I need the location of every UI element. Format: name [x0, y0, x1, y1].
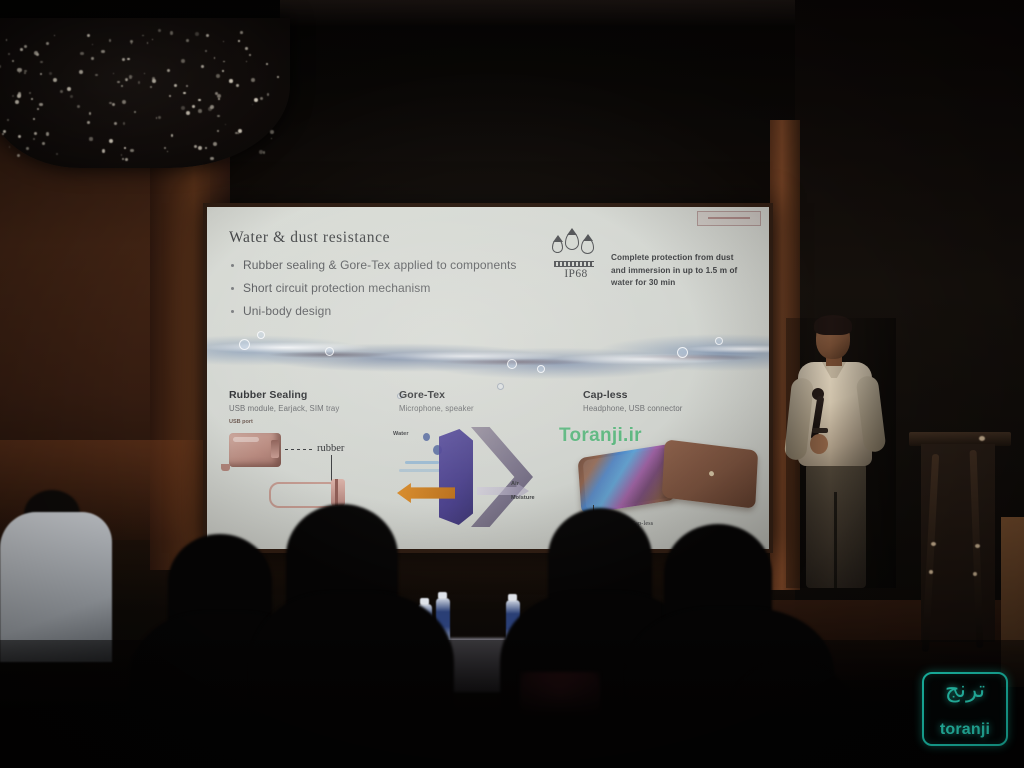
chandelier-sparkle — [171, 134, 174, 137]
water-bubble — [257, 331, 265, 339]
chandelier-sparkle — [194, 145, 197, 148]
sim-tray-end — [331, 479, 345, 506]
chandelier-sparkle — [102, 149, 105, 152]
chandelier-sparkle — [270, 130, 274, 134]
bullet-text: Short circuit protection mechanism — [243, 282, 430, 295]
water-bottle-cap — [420, 598, 429, 605]
chandelier-sparkle — [206, 34, 209, 37]
podium-light-glint — [975, 544, 980, 548]
toranji-logo: ترنج toranji — [922, 672, 1008, 746]
chandelier-sparkle — [156, 117, 157, 118]
chandelier-sparkle — [198, 109, 202, 113]
gore-tex-diagram: Water Air Moisture — [393, 425, 543, 530]
water-droplet — [497, 383, 504, 390]
chandelier-sparkle — [167, 151, 168, 152]
phone-render-front — [578, 443, 677, 514]
chandelier-sparkle — [217, 115, 220, 118]
chandelier-sparkle — [12, 60, 14, 62]
chandelier-sparkle — [92, 44, 93, 45]
chandelier-sparkle — [20, 48, 23, 51]
chandelier-sparkle — [12, 95, 14, 97]
chandelier-sparkle — [144, 73, 145, 74]
water-bottle-cap — [438, 592, 447, 599]
ip-rating-badge: IP68 — [552, 229, 600, 285]
chandelier-sparkle — [205, 147, 207, 149]
rubber-callout-label: rubber — [317, 443, 344, 454]
section-gore-tex: Gore-Tex Microphone, speaker — [399, 389, 474, 413]
water-bubble — [239, 339, 250, 350]
ip-rating-label: IP68 — [554, 268, 598, 280]
chandelier-sparkle — [254, 98, 258, 102]
chandelier-sparkle — [152, 79, 156, 83]
gore-tex-label-moisture: Moisture — [511, 495, 535, 501]
chandelier-sparkle — [164, 147, 166, 149]
chandelier-sparkle — [186, 111, 190, 115]
logo-persian-text: ترنج — [922, 679, 1008, 702]
chandelier-sparkle — [210, 157, 214, 161]
chandelier-sparkle — [122, 158, 124, 160]
chandelier-sparkle — [251, 78, 255, 82]
gore-tex-chevron — [471, 427, 533, 527]
water-bottle-cap — [508, 594, 517, 601]
bullet-text: Rubber sealing & Gore-Tex applied to com… — [243, 259, 517, 272]
section-cap-less: Cap-less Headphone, USB connector — [583, 389, 683, 413]
rubber-callout-stem — [331, 455, 332, 481]
chandelier-sparkle — [121, 85, 124, 88]
rubber-callout-line — [285, 449, 315, 450]
podium-light-glint — [973, 572, 977, 576]
chandelier-sparkle — [192, 105, 195, 108]
chandelier-sparkle — [109, 39, 111, 41]
crystal-chandelier — [0, 18, 290, 168]
chandelier-sparkle — [89, 137, 92, 140]
chandelier-sparkle — [54, 35, 56, 37]
presenter-wristwatch — [812, 428, 828, 433]
chandelier-sparkle — [40, 61, 42, 63]
water-splash-graphic — [207, 313, 769, 385]
chandelier-sparkle — [36, 53, 39, 56]
chandelier-sparkle — [246, 61, 247, 62]
water-bubble — [507, 359, 517, 369]
chandelier-sparkle — [18, 135, 21, 138]
chandelier-sparkle — [0, 65, 1, 68]
water-drop-medium-icon — [581, 238, 594, 254]
chandelier-sparkle — [252, 104, 253, 105]
chandelier-sparkle — [26, 147, 29, 150]
chandelier-sparkle — [77, 105, 80, 108]
chandelier-sparkle — [236, 84, 238, 86]
chandelier-sparkle — [260, 97, 263, 100]
podium — [905, 432, 1024, 657]
ip-underline-hatch — [554, 261, 594, 267]
water-drop-large-icon — [565, 232, 579, 250]
podium-light-glint — [931, 542, 936, 546]
sim-tray-illustration — [269, 482, 339, 508]
chandelier-sparkle — [198, 99, 201, 102]
section-title: Gore-Tex — [399, 389, 474, 401]
gore-tex-membrane — [439, 429, 473, 525]
chandelier-sparkle — [217, 130, 218, 131]
chandelier-sparkle — [205, 50, 207, 52]
chandelier-sparkle — [123, 122, 126, 125]
presentation-photo: Water & dust resistance Rubber sealing &… — [0, 0, 1024, 768]
section-rubber-sealing: Rubber Sealing USB module, Earjack, SIM … — [229, 389, 339, 413]
water-stream — [405, 461, 439, 464]
phone-render-back — [662, 439, 758, 509]
chandelier-sparkle — [127, 58, 130, 61]
chandelier-sparkle — [46, 42, 49, 45]
presenter-legs — [806, 462, 866, 588]
chandelier-sparkle — [117, 81, 119, 83]
chandelier-sparkle — [33, 118, 36, 121]
chandelier-sparkle — [87, 121, 90, 124]
chandelier-sparkle — [216, 74, 220, 78]
chandelier-sparkle — [142, 35, 144, 37]
bullet-dot-icon — [231, 287, 234, 290]
chandelier-sparkle — [170, 31, 174, 35]
chandelier-sparkle — [130, 149, 134, 153]
foreground-shadow — [0, 640, 1024, 768]
podium-light-glint — [929, 570, 933, 574]
bullet-dot-icon — [231, 264, 234, 267]
chandelier-sparkle — [167, 69, 170, 72]
slide-corner-logo — [697, 211, 761, 226]
chandelier-sparkle — [134, 111, 136, 113]
chandelier-sparkle — [240, 31, 243, 34]
presenter-hair — [814, 315, 852, 335]
chandelier-sparkle — [17, 154, 20, 157]
chandelier-sparkle — [249, 54, 251, 56]
chandelier-sparkle — [109, 102, 111, 104]
chandelier-sparkle — [40, 73, 42, 75]
chandelier-sparkle — [208, 107, 212, 111]
logo-latin-text: toranji — [922, 721, 1008, 739]
chandelier-sparkle — [158, 116, 161, 119]
chandelier-sparkle — [125, 158, 128, 161]
chandelier-sparkle — [114, 122, 117, 125]
chandelier-sparkle — [79, 70, 83, 74]
chandelier-sparkle — [87, 34, 90, 37]
chandelier-sparkle — [198, 146, 202, 150]
chandelier-sparkle — [201, 65, 204, 68]
section-title: Cap-less — [583, 389, 683, 401]
chandelier-sparkle — [24, 45, 27, 48]
chandelier-sparkle — [46, 132, 49, 135]
water-bubble — [537, 365, 545, 373]
section-subtitle: USB module, Earjack, SIM tray — [229, 404, 339, 413]
usb-port-note: USB port — [229, 419, 253, 425]
chandelier-sparkle — [8, 53, 10, 55]
chandelier-sparkle — [147, 42, 149, 44]
chandelier-sparkle — [33, 138, 35, 140]
chandelier-sparkle — [112, 103, 115, 106]
chandelier-sparkle — [122, 100, 126, 104]
chandelier-sparkle — [60, 90, 64, 94]
chandelier-sparkle — [34, 132, 37, 135]
chandelier-sparkle — [80, 52, 83, 55]
chandelier-sparkle — [169, 95, 171, 97]
water-droplet — [423, 433, 430, 441]
water-bubble — [715, 337, 723, 345]
chandelier-sparkle — [238, 40, 239, 41]
chandelier-sparkle — [238, 129, 242, 133]
chandelier-sparkle — [132, 76, 133, 77]
chandelier-sparkle — [181, 59, 185, 63]
chandelier-sparkle — [223, 41, 224, 42]
chandelier-sparkle — [67, 87, 71, 91]
chandelier-sparkle — [113, 73, 114, 74]
chandelier-sparkle — [186, 39, 189, 42]
chandelier-sparkle — [89, 112, 91, 114]
chandelier-sparkle — [39, 103, 42, 106]
chandelier-sparkle — [15, 100, 19, 104]
chandelier-sparkle — [222, 70, 223, 71]
section-subtitle: Headphone, USB connector — [583, 404, 683, 413]
usb-port-tab — [221, 464, 230, 471]
chandelier-sparkle — [245, 47, 248, 50]
chandelier-sparkle — [183, 92, 185, 94]
chandelier-sparkle — [29, 92, 31, 94]
chandelier-sparkle — [24, 72, 25, 73]
chandelier-sparkle — [2, 133, 4, 135]
slide-title: Water & dust resistance — [229, 229, 390, 247]
water-bubble — [677, 347, 688, 358]
ip-rating-description: Complete protection from dust and immers… — [611, 252, 741, 290]
chandelier-sparkle — [229, 79, 233, 83]
chandelier-sparkle — [138, 81, 140, 83]
chandelier-sparkle — [42, 142, 45, 145]
chandelier-sparkle — [101, 50, 105, 54]
chandelier-sparkle — [17, 68, 21, 72]
chandelier-sparkle — [277, 76, 278, 77]
chandelier-sparkle — [49, 72, 52, 75]
chandelier-sparkle — [150, 86, 153, 89]
podium-light-glint — [979, 436, 985, 441]
chandelier-sparkle — [91, 57, 93, 59]
water-drop-small-icon — [552, 239, 563, 253]
chandelier-sparkle — [109, 139, 113, 143]
chandelier-sparkle — [223, 61, 224, 62]
chandelier-sparkle — [218, 98, 220, 100]
chandelier-sparkle — [225, 124, 226, 125]
chandelier-sparkle — [152, 39, 153, 40]
chandelier-sparkle — [95, 74, 98, 77]
water-drops-icon — [552, 229, 598, 257]
chandelier-sparkle — [181, 106, 185, 110]
chandelier-sparkle — [267, 93, 270, 96]
section-title: Rubber Sealing — [229, 389, 339, 401]
chandelier-sparkle — [7, 119, 9, 121]
chandelier-sparkle — [174, 84, 178, 88]
projected-slide: Water & dust resistance Rubber sealing &… — [207, 207, 769, 549]
water-bubble — [325, 347, 334, 356]
chandelier-sparkle — [31, 98, 33, 100]
chandelier-sparkle — [186, 85, 188, 87]
chandelier-sparkle — [3, 130, 6, 133]
chandelier-sparkle — [214, 57, 216, 59]
chandelier-sparkle — [70, 95, 73, 98]
chandelier-sparkle — [6, 39, 7, 40]
gore-tex-label-air: Air — [511, 481, 519, 487]
chandelier-sparkle — [37, 108, 39, 110]
chandelier-sparkle — [213, 142, 217, 146]
chandelier-sparkle — [195, 32, 199, 36]
gore-tex-label-water: Water — [393, 431, 409, 437]
presenter — [786, 318, 896, 588]
presenter-hand — [810, 434, 828, 454]
slide-watermark: Toranji.ir — [559, 425, 642, 447]
chandelier-sparkle — [122, 58, 125, 61]
chandelier-sparkle — [124, 147, 126, 149]
chandelier-sparkle — [158, 29, 161, 32]
chandelier-sparkle — [238, 133, 239, 134]
list-item: Short circuit protection mechanism — [231, 282, 561, 295]
section-subtitle: Microphone, speaker — [399, 404, 474, 413]
usb-port-illustration — [229, 433, 281, 467]
chandelier-sparkle — [266, 63, 268, 65]
chandelier-sparkle — [18, 92, 21, 95]
list-item: Rubber sealing & Gore-Tex applied to com… — [231, 259, 561, 272]
chandelier-sparkle — [121, 154, 122, 155]
water-stream — [399, 469, 441, 472]
chandelier-sparkle — [56, 153, 57, 154]
chandelier-sparkle — [53, 78, 57, 82]
